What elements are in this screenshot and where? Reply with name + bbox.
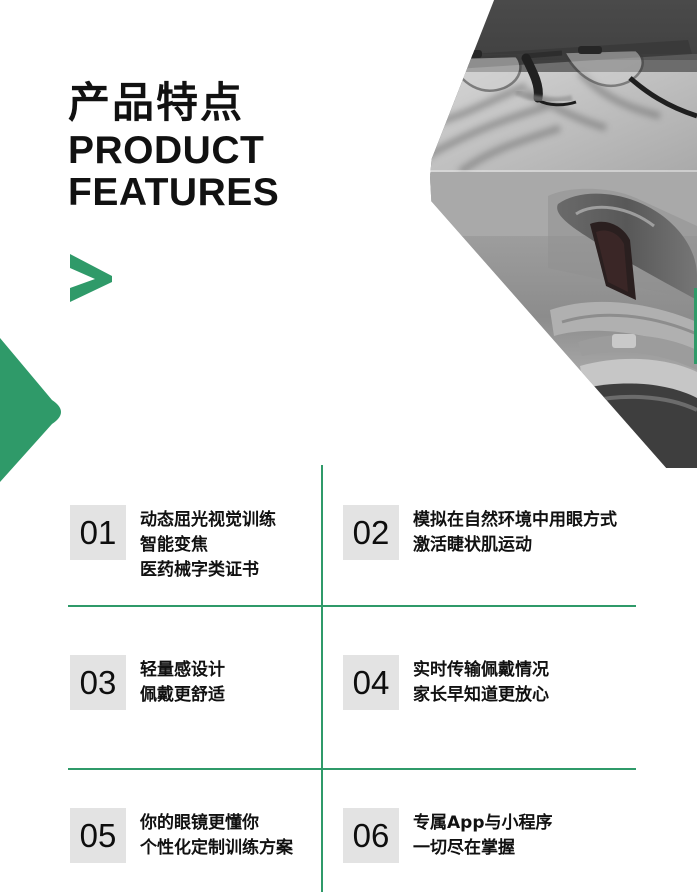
- grid-vertical-divider: [321, 465, 323, 892]
- feature-line: 佩戴更舒适: [140, 683, 225, 708]
- feature-line: 轻量感设计: [140, 658, 225, 683]
- feature-text: 轻量感设计 佩戴更舒适: [140, 655, 225, 708]
- feature-text: 专属App与小程序 一切尽在掌握: [413, 808, 553, 861]
- feature-line: 模拟在自然环境中用眼方式: [413, 508, 617, 533]
- feature-line: 家长早知道更放心: [413, 683, 549, 708]
- left-arrow-shape-icon: [0, 338, 70, 482]
- feature-item-02[interactable]: 02 模拟在自然环境中用眼方式 激活睫状肌运动: [343, 505, 663, 560]
- feature-item-05[interactable]: 05 你的眼镜更懂你 个性化定制训练方案: [70, 808, 320, 863]
- feature-text: 模拟在自然环境中用眼方式 激活睫状肌运动: [413, 505, 617, 558]
- feature-text: 动态屈光视觉训练 智能变焦 医药械字类证书: [140, 505, 276, 583]
- feature-line: 个性化定制训练方案: [140, 836, 293, 861]
- feature-item-03[interactable]: 03 轻量感设计 佩戴更舒适: [70, 655, 320, 710]
- page-title-en-line1: PRODUCT: [68, 130, 438, 172]
- page-title-cn: 产品特点: [68, 78, 438, 128]
- chevron-right-icon: [68, 252, 118, 304]
- feature-number-badge: 05: [70, 808, 126, 863]
- features-grid: 01 动态屈光视觉训练 智能变焦 医药械字类证书 02 模拟在自然环境中用眼方式…: [0, 462, 697, 892]
- page-title-en-line2: FEATURES: [68, 172, 438, 214]
- feature-line: 实时传输佩戴情况: [413, 658, 549, 683]
- feature-line: 医药械字类证书: [140, 558, 276, 583]
- feature-number-badge: 03: [70, 655, 126, 710]
- page-title-en: PRODUCT FEATURES: [68, 130, 438, 214]
- feature-text: 实时传输佩戴情况 家长早知道更放心: [413, 655, 549, 708]
- feature-number-badge: 01: [70, 505, 126, 560]
- feature-line: 一切尽在掌握: [413, 836, 553, 861]
- feature-item-04[interactable]: 04 实时传输佩戴情况 家长早知道更放心: [343, 655, 663, 710]
- page-title-block: 产品特点 PRODUCT FEATURES: [68, 78, 438, 214]
- feature-line: 智能变焦: [140, 533, 276, 558]
- feature-line: 专属App与小程序: [413, 811, 553, 836]
- grid-horizontal-divider-2: [68, 768, 636, 770]
- feature-item-06[interactable]: 06 专属App与小程序 一切尽在掌握: [343, 808, 663, 863]
- feature-number-badge: 06: [343, 808, 399, 863]
- feature-number-badge: 04: [343, 655, 399, 710]
- grid-horizontal-divider-1: [68, 605, 636, 607]
- feature-line: 你的眼镜更懂你: [140, 811, 293, 836]
- feature-number-badge: 02: [343, 505, 399, 560]
- product-features-page: 产品特点 PRODUCT FEATURES 01 动态屈光视觉训练 智能变焦 医…: [0, 0, 697, 892]
- feature-line: 动态屈光视觉训练: [140, 508, 276, 533]
- feature-line: 激活睫状肌运动: [413, 533, 617, 558]
- feature-item-01[interactable]: 01 动态屈光视觉训练 智能变焦 医药械字类证书: [70, 505, 320, 583]
- product-photo-image: [430, 0, 697, 468]
- product-photo: [430, 0, 697, 468]
- feature-text: 你的眼镜更懂你 个性化定制训练方案: [140, 808, 293, 861]
